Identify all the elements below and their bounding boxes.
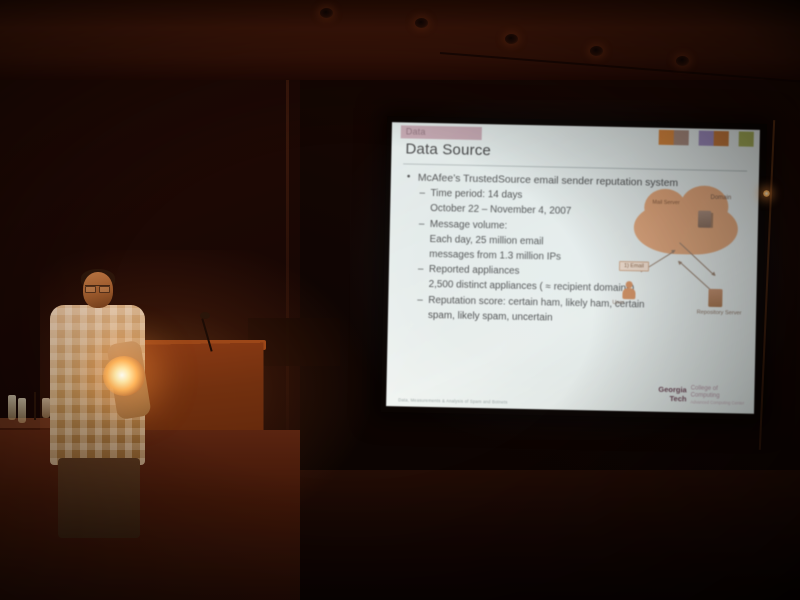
slide-color-chips — [659, 130, 754, 147]
email-step-label: 1) Email — [619, 261, 649, 272]
water-bottle — [18, 398, 26, 423]
slide-section-tab: Data — [401, 125, 482, 140]
repository-server-icon — [708, 289, 722, 307]
ceiling-downlight — [505, 34, 518, 44]
slide-title: Data Source — [405, 140, 491, 159]
ceiling-downlight — [590, 46, 603, 56]
mail-server-label: Mail Server — [652, 200, 679, 207]
gt-college-block: College of Computing Advanced Computing … — [690, 385, 744, 405]
projection-screen: Data Data Source McAfee’s TrustedSource … — [381, 116, 767, 420]
ceiling-downlight — [415, 18, 428, 28]
glasses-left-lens — [85, 286, 96, 293]
mail-server-icon — [698, 211, 711, 228]
slide-footnote: Data, Measurements & Analysis of Spam an… — [398, 397, 508, 404]
gt-wordmark: Georgia Tech — [658, 386, 687, 404]
user-icon — [622, 281, 635, 299]
georgia-tech-logo: Georgia Tech College of Computing Advanc… — [658, 385, 745, 406]
title-divider — [403, 163, 747, 171]
domain-label: Domain — [710, 195, 731, 201]
presentation-slide: Data Data Source McAfee’s TrustedSource … — [386, 122, 760, 414]
ceiling-downlight — [320, 8, 333, 18]
chip-purple-icon — [699, 131, 714, 146]
email-flow-diagram: Mail Server Domain User 1) Email Reposit… — [604, 195, 757, 338]
glasses-right-lens — [99, 286, 110, 293]
chip-olive-icon — [739, 131, 754, 146]
wall-seam — [286, 58, 289, 478]
water-bottle — [8, 395, 16, 420]
stage-skirt — [0, 430, 300, 600]
water-bottle — [42, 398, 50, 418]
repository-server-label: Repository Server — [696, 310, 742, 318]
chip-amber-icon — [714, 131, 729, 146]
glasses-icon — [85, 285, 110, 291]
presentation-photo-scene: Data Data Source McAfee’s TrustedSource … — [0, 0, 800, 600]
gt-line2: Tech — [658, 394, 687, 403]
ceiling-downlight — [676, 56, 689, 66]
user-label: User — [612, 300, 624, 306]
user-body-icon — [622, 288, 635, 299]
table-microphone — [34, 392, 36, 420]
presenter-trousers — [58, 458, 140, 538]
chip-orange-icon — [659, 130, 674, 145]
chip-spacer — [729, 131, 739, 146]
chip-mauve-icon — [674, 130, 689, 145]
podium-microphone — [200, 312, 210, 319]
college-tagline: Advanced Computing Center — [690, 399, 744, 405]
repository-label-text: Repository Server — [697, 310, 742, 317]
chip-spacer — [689, 130, 699, 145]
wire-light — [763, 190, 770, 197]
podium-lamp — [103, 356, 145, 396]
ceiling — [0, 0, 800, 80]
